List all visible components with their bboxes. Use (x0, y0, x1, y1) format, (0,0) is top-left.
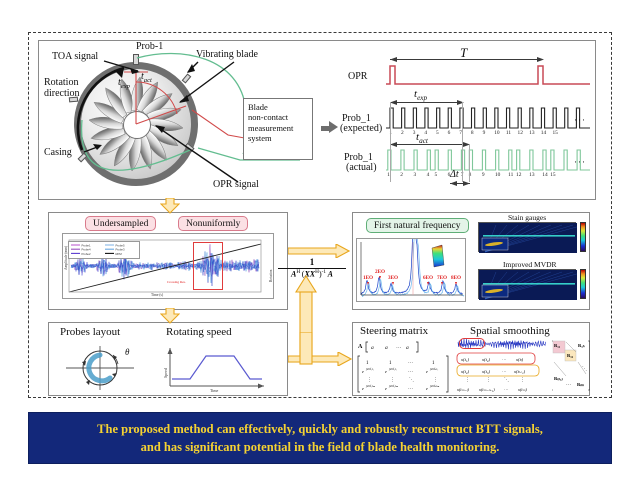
svg-text:e: e (385, 386, 387, 391)
svg-text:e: e (385, 369, 387, 374)
pulse-number: 10 (495, 172, 500, 178)
svg-text:x(tₘ): x(tₘ) (517, 387, 527, 392)
pulse-number: 11 (508, 172, 513, 178)
opr-waveform (386, 62, 592, 88)
pulse-number: 13 (529, 172, 534, 178)
conclusion-banner: The proposed method can effectively, qui… (28, 412, 612, 464)
heatmap-improved-mvdr (478, 269, 576, 299)
svg-text:···: ··· (408, 387, 413, 392)
svg-text:···: ··· (502, 357, 507, 362)
pulse-number: 2 (400, 172, 403, 178)
label-theta-angle: θ (125, 348, 129, 357)
label-prob1-expected-line2: (expected) (340, 124, 382, 135)
svg-text:j2πf₁tₘ: j2πf₁tₘ (365, 384, 375, 388)
grey-arrow-head-icon (329, 121, 338, 133)
measurement-system-box: Blade non-contact measurement system (243, 98, 313, 160)
plot-xlabel: Time (s) (151, 293, 163, 297)
smoothing-matrix-sketch: x(t₁) x(t₂) ··· x(tₗ) x(t₂) x(t₃) ··· x(… (454, 352, 552, 394)
svg-text:⋮: ⋮ (433, 377, 438, 383)
eo-marker-arrow (379, 276, 381, 279)
undersampled-signal-plot: Probe1Probe4Probe2Probe5Probe3RPM Time (… (62, 233, 274, 299)
pulse-number: 14 (542, 172, 547, 178)
label-opr: OPR (348, 72, 367, 83)
heatmap-2-svg (479, 270, 577, 300)
banner-line-1: The proposed method can effectively, qui… (97, 422, 543, 436)
highlight-rect-crossing (193, 242, 223, 290)
heatmap-1-svg (479, 223, 577, 253)
eo-label: 3EO (388, 275, 398, 281)
svg-text:···: ··· (408, 370, 413, 375)
pulse-number: 12 (518, 130, 523, 136)
pulse-number: 15 (550, 172, 555, 178)
svg-text:⋱: ⋱ (504, 377, 509, 383)
eo-label: 7EO (437, 275, 447, 281)
svg-text:e: e (362, 369, 364, 374)
svg-text:1: 1 (389, 361, 392, 366)
heatmap-2-title: Improved MVDR (503, 261, 557, 269)
svg-text:e: e (426, 369, 428, 374)
eo-label: 8EO (451, 275, 461, 281)
pulse-number: 6 (448, 130, 451, 136)
label-t-exp-timing: texp (414, 89, 427, 103)
svg-text:j2πfₖt₁: j2πfₖt₁ (429, 367, 439, 371)
pulse-number: 11 (506, 130, 511, 136)
pulse-number: 3 (413, 172, 416, 178)
eo-marker-arrow (367, 282, 369, 285)
svg-text:···: ··· (566, 383, 571, 388)
label-prob1-actual-line2: (actual) (346, 163, 377, 174)
svg-text:⋱: ⋱ (409, 377, 414, 383)
title-probes-layout: Probes layout (60, 327, 120, 339)
plot-legend: Probe1Probe4Probe2Probe5Probe3RPM (68, 241, 140, 259)
mbox-line-4: system (248, 133, 308, 143)
pulse-number: 10 (494, 130, 499, 136)
pulse-number: 9 (482, 172, 485, 178)
svg-text:Probe2: Probe2 (82, 252, 91, 256)
heatmap-stain-gauges (478, 222, 576, 252)
actual-ellipsis: ··· (574, 158, 586, 167)
svg-text:x(t₂): x(t₂) (460, 369, 469, 374)
svg-text:x(tₘ₋ₗ₊₁): x(tₘ₋ₗ₊₁) (478, 387, 495, 392)
eo-marker-arrow (441, 282, 443, 285)
svg-text:⋮: ⋮ (486, 377, 491, 383)
svg-text:e: e (362, 386, 364, 391)
svg-text:a: a (385, 345, 388, 351)
heatmap-2-colorbar (580, 269, 586, 299)
pulse-number: 5 (436, 130, 439, 136)
mode-shape-icon (429, 244, 447, 268)
svg-text:R₁ₙ: R₁ₙ (578, 343, 585, 348)
eo-marker-arrow (427, 282, 429, 285)
svg-text:···: ··· (502, 369, 507, 374)
svg-text:e: e (426, 386, 428, 391)
expected-pulse-train (386, 104, 592, 132)
timing-diagram: T OPR texp Prob_1 (expected) 12345678910… (342, 46, 592, 194)
flow-arrow-connector (296, 332, 316, 366)
svg-text:j2πf₁t₁: j2πf₁t₁ (365, 367, 374, 371)
pulse-number: 5 (434, 172, 437, 178)
svg-text:1: 1 (366, 361, 369, 366)
actual-pulse-train (386, 146, 592, 174)
pulse-number: 15 (552, 130, 557, 136)
svg-text:R₁₂: R₁₂ (567, 353, 574, 358)
label-t-act-timing: tact (416, 132, 428, 146)
svg-text:⋮: ⋮ (520, 377, 525, 383)
svg-text:R₍ₙ₁₎: R₍ₙ₁₎ (554, 376, 564, 381)
flow-arrow-down-mid (160, 308, 180, 324)
plot-annotation: Crossing Res. (167, 280, 186, 284)
svg-text:···: ··· (396, 345, 402, 351)
svg-text:j2πfₖtₘ: j2πfₖtₘ (429, 384, 439, 388)
pulse-number: 4 (427, 172, 430, 178)
pulse-number: 14 (541, 130, 546, 136)
eo-marker-arrow (392, 282, 394, 285)
svg-text:⋮: ⋮ (367, 377, 372, 383)
title-spatial-smoothing: Spatial smoothing (470, 326, 550, 338)
svg-text:⋮: ⋮ (390, 377, 395, 383)
pulse-number: 3 (413, 130, 416, 136)
svg-text:x(tₗ): x(tₗ) (515, 357, 524, 362)
label-delta-t: Δt (450, 170, 459, 181)
frequency-spectrum-plot: 1EO2EO3EO6EO7EO8EO (356, 238, 466, 302)
svg-text:a: a (371, 345, 374, 351)
rotating-speed-plot (160, 344, 270, 392)
pulse-number: 8 (471, 130, 474, 136)
chip-nonuniformly: Nonuniformly (178, 216, 248, 231)
pulse-number: 9 (483, 130, 486, 136)
spectrum-svg (357, 239, 466, 302)
mbox-line-3: measurement (248, 123, 308, 133)
figure-root: TOA signal Prob-1 Vibrating blade Rotati… (0, 0, 639, 483)
banner-text: The proposed method can effectively, qui… (97, 420, 543, 456)
banner-line-2: and has significant potential in the fie… (141, 440, 500, 454)
svg-text:x(tₗ₊₁): x(tₗ₊₁) (513, 369, 526, 374)
svg-text:⋮: ⋮ (465, 377, 470, 383)
svg-text:···: ··· (408, 361, 413, 366)
steering-matrix-sketch: A a a ··· a 1 1 ··· 1 e j2πf₁t₁ e j2πf₂t… (356, 340, 452, 394)
eo-label: 6EO (423, 275, 433, 281)
smoothing-window-1 (459, 338, 485, 349)
chip-first-natural-frequency: First natural frequency (366, 218, 469, 233)
svg-text:···: ··· (504, 387, 509, 392)
svg-text:x(tₘ₋ₗ): x(tₘ₋ₗ) (456, 387, 469, 392)
heatmap-1-title: Stain gauges (508, 214, 546, 222)
chip-undersampled: Undersampled (85, 216, 156, 231)
svg-text:1: 1 (432, 361, 435, 366)
svg-text:j2πf₂tₘ: j2πf₂tₘ (388, 384, 398, 388)
eo-marker-arrow (455, 282, 457, 285)
plot-ylabel-left: Amplitude (mm) (64, 246, 68, 270)
svg-text:x(t₃): x(t₃) (481, 369, 490, 374)
svg-text:j2πf₂t₁: j2πf₂t₁ (388, 367, 397, 371)
speed-plot-ylabel: Speed (163, 368, 168, 378)
eo-label: 2EO (375, 269, 385, 275)
pulse-number: 12 (516, 172, 521, 178)
speed-plot-xlabel: Time (210, 388, 218, 393)
label-period-T: T (460, 46, 467, 60)
svg-text:Rₙₙ: Rₙₙ (577, 382, 584, 387)
svg-text:R₁₁: R₁₁ (554, 343, 561, 348)
pulse-number: 13 (529, 130, 534, 136)
mbox-line-2: non-contact (248, 112, 308, 122)
svg-text:x(t₁): x(t₁) (460, 357, 469, 362)
svg-text:x(t₂): x(t₂) (481, 357, 490, 362)
pulse-number: 2 (401, 130, 404, 136)
svg-text:A: A (358, 344, 363, 350)
heatmap-1-colorbar (580, 222, 586, 252)
mbox-line-1: Blade (248, 102, 308, 112)
svg-text:a: a (406, 345, 409, 351)
expected-ellipsis: ··· (574, 116, 586, 125)
title-rotating-speed: Rotating speed (166, 327, 232, 339)
eo-label: 1EO (363, 275, 373, 281)
svg-text:⋱: ⋱ (582, 366, 587, 372)
flow-arrow-down-top (160, 198, 180, 214)
title-steering-matrix: Steering matrix (360, 326, 428, 338)
covariance-block-matrix: R₁₁ R₁₂ R₁ₙ R₍ₙ₁₎ Rₙₙ ⋱ ··· (552, 340, 590, 392)
svg-text:RPM: RPM (116, 252, 123, 256)
grey-arrow-tail (321, 126, 329, 131)
